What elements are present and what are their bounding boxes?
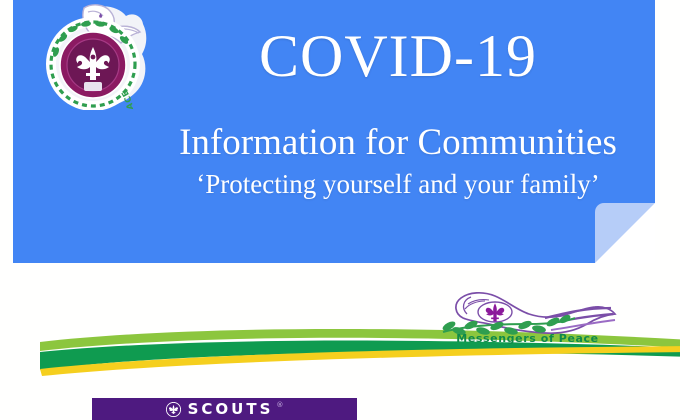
scouts-wordmark: SCOUTS	[188, 402, 274, 417]
poster-canvas: MESSENGERS OF PEACE COVID-19 Information…	[0, 0, 680, 420]
messengers-of-peace-label: Messengers of Peace	[425, 332, 630, 345]
hero-panel: MESSENGERS OF PEACE COVID-19 Information…	[13, 0, 655, 263]
messengers-of-peace-crest-icon: MESSENGERS OF PEACE	[36, 2, 151, 110]
page-title: COVID-19	[259, 26, 537, 86]
scouts-fleur-de-lis-icon	[166, 402, 181, 417]
hero-text-block: COVID-19 Information for Communities ‘Pr…	[163, 0, 633, 263]
messengers-of-peace-dove-lockup: Messengers of Peace	[425, 288, 630, 356]
page-fold-corner	[595, 203, 655, 263]
scouts-brand-bar: SCOUTS ®	[92, 398, 357, 420]
page-subtitle: Information for Communities	[179, 124, 617, 163]
scouts-trademark: ®	[276, 401, 283, 409]
page-tagline: ‘Protecting yourself and your family’	[196, 170, 599, 200]
